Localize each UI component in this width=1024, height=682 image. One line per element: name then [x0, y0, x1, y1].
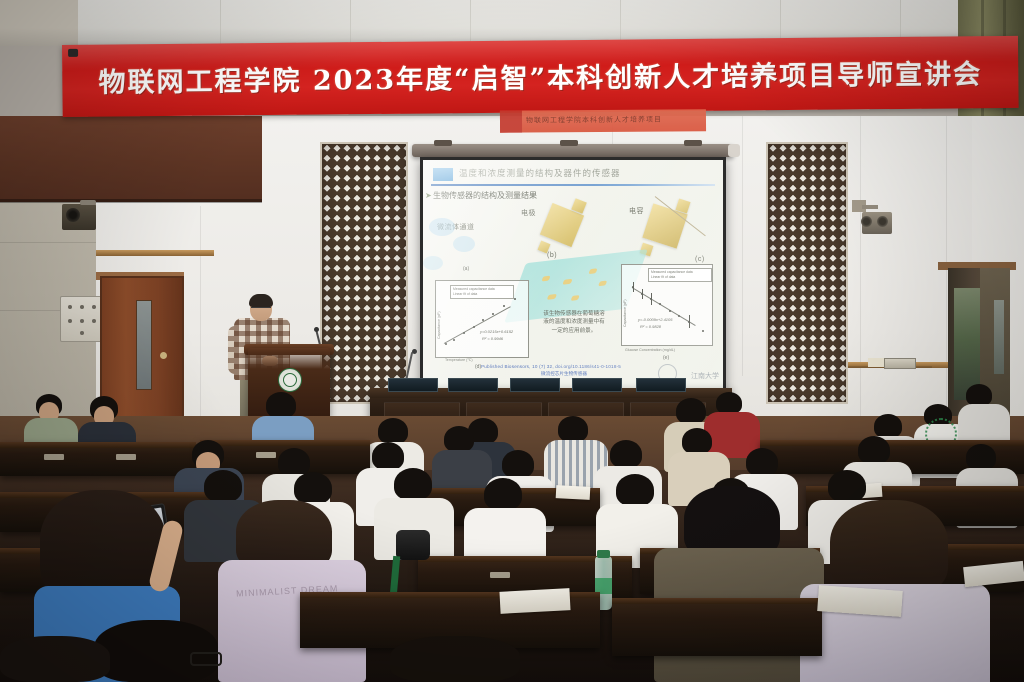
- podium-emblem-inner: [283, 373, 297, 387]
- chart-temperature-capacitance: Measured capacitance data Linear fit of …: [435, 280, 529, 358]
- label-electrode-left: 电极: [521, 208, 536, 218]
- emergency-lamp-icon: [861, 216, 872, 227]
- door-glass-pane: [136, 300, 152, 390]
- banner-tack: [68, 49, 78, 57]
- door-handle-icon[interactable]: [160, 352, 167, 359]
- decorative-blob: [429, 218, 455, 236]
- slide-citation: Published Biosensors, 10 (7) 32, doi.org…: [481, 364, 621, 369]
- projection-screen: 温度和浓度测量的结构及器件的传感器 ➤ 生物传感器的结构及测量结果 电极 电容 …: [420, 157, 726, 391]
- chart-ylabel: Capacitance (pF): [437, 311, 441, 339]
- housing-endcap: [728, 144, 740, 157]
- chart-fit-equation: y=-0.0009x+2.4105: [638, 317, 672, 322]
- panel-label-b: (b): [547, 252, 557, 259]
- panel-label-e: (e): [663, 355, 669, 361]
- projector-screen-housing: [412, 144, 734, 157]
- panel-label-c: (c): [695, 256, 705, 263]
- slide-surface: 温度和浓度测量的结构及器件的传感器 ➤ 生物传感器的结构及测量结果 电极 电容 …: [423, 160, 723, 388]
- panel-label-a: (a): [463, 266, 469, 272]
- acoustic-lattice-panel: [320, 142, 408, 404]
- sub-banner-text: 物联网工程学院本科创新人才培养项目: [526, 115, 662, 126]
- camera-bag: [396, 530, 430, 560]
- wall-sign: [884, 358, 916, 369]
- speaker-mount: [80, 200, 96, 205]
- door-glass-pane: [994, 300, 1004, 374]
- chart-xlabel-right: Glucose Concentration (mg/dL): [625, 348, 675, 352]
- chart-r-squared: R² = 0.9828: [640, 324, 661, 329]
- slide-header-marker: [433, 168, 453, 181]
- upper-wood-panel: [0, 116, 262, 202]
- slide-bullet-text: 生物传感器的结构及测量结果: [433, 190, 537, 201]
- decorative-blob: [453, 236, 475, 252]
- microphone-head-icon: [314, 327, 319, 332]
- event-banner: 物联网工程学院 2023年度“启智”本科创新人才培养项目导师宣讲会: [62, 36, 1019, 117]
- emergency-light-stem: [862, 205, 878, 209]
- slide-citation-line2: 微流控芯片生物传感器: [541, 371, 587, 377]
- glasses-icon: [251, 307, 271, 312]
- chart-xlabel-left: Temperature (℃): [445, 358, 473, 362]
- chart-ylabel: Capacitance (pF): [623, 299, 627, 327]
- glasses-icon: [190, 652, 222, 666]
- emergency-lamp-icon: [877, 216, 888, 227]
- legend-entry: Linear fit of data: [651, 275, 709, 280]
- decorative-blob: [423, 256, 443, 270]
- speaker-cone-icon: [66, 208, 80, 222]
- microphone-head-icon: [412, 349, 417, 354]
- paper-sheet: [499, 588, 570, 614]
- chart-legend: Measured capacitance data Linear fit of …: [648, 268, 712, 282]
- university-logo-text: 江南大学: [691, 371, 719, 381]
- bullet-arrow-icon: ➤: [425, 191, 432, 200]
- slide-summary-note: 该生物传感器在葡萄糖溶液的温度和浓度测量中有一定的应用前景。: [543, 310, 605, 335]
- legend-entry: Linear fit of data: [453, 292, 511, 297]
- chart-fit-equation: y=0.0215x+0.6152: [480, 329, 513, 334]
- wall-trim-left: [96, 250, 214, 256]
- chart-glucose-capacitance: Measured capacitance data Linear fit of …: [621, 264, 713, 346]
- lecture-hall-photo: 物联网工程学院 2023年度“启智”本科创新人才培养项目导师宣讲会 物联网工程学…: [0, 0, 1024, 682]
- chart-r-squared: R² = 0.9946: [482, 336, 503, 341]
- sub-banner-tab: [500, 111, 522, 133]
- chart-legend: Measured capacitance data Linear fit of …: [450, 285, 514, 299]
- banner-title: 物联网工程学院 2023年度“启智”本科创新人才培养项目导师宣讲会: [62, 52, 1018, 100]
- paper-sheet: [556, 485, 591, 500]
- acoustic-lattice-panel: [766, 142, 848, 404]
- wall-control-panel[interactable]: [60, 296, 102, 342]
- slide-header-text: 温度和浓度测量的结构及器件的传感器: [459, 167, 621, 179]
- label-electrode-right: 电容: [629, 206, 644, 216]
- presenter-hair: [249, 294, 273, 307]
- bottle-cap: [597, 550, 610, 558]
- slide-header-rule: [431, 184, 715, 186]
- desk-row: [612, 598, 822, 656]
- sub-banner: 物联网工程学院本科创新人才培养项目: [500, 109, 706, 132]
- wood-panel-edge: [0, 199, 262, 203]
- wall-sign-tab: [868, 358, 884, 367]
- desk-row: [0, 442, 196, 476]
